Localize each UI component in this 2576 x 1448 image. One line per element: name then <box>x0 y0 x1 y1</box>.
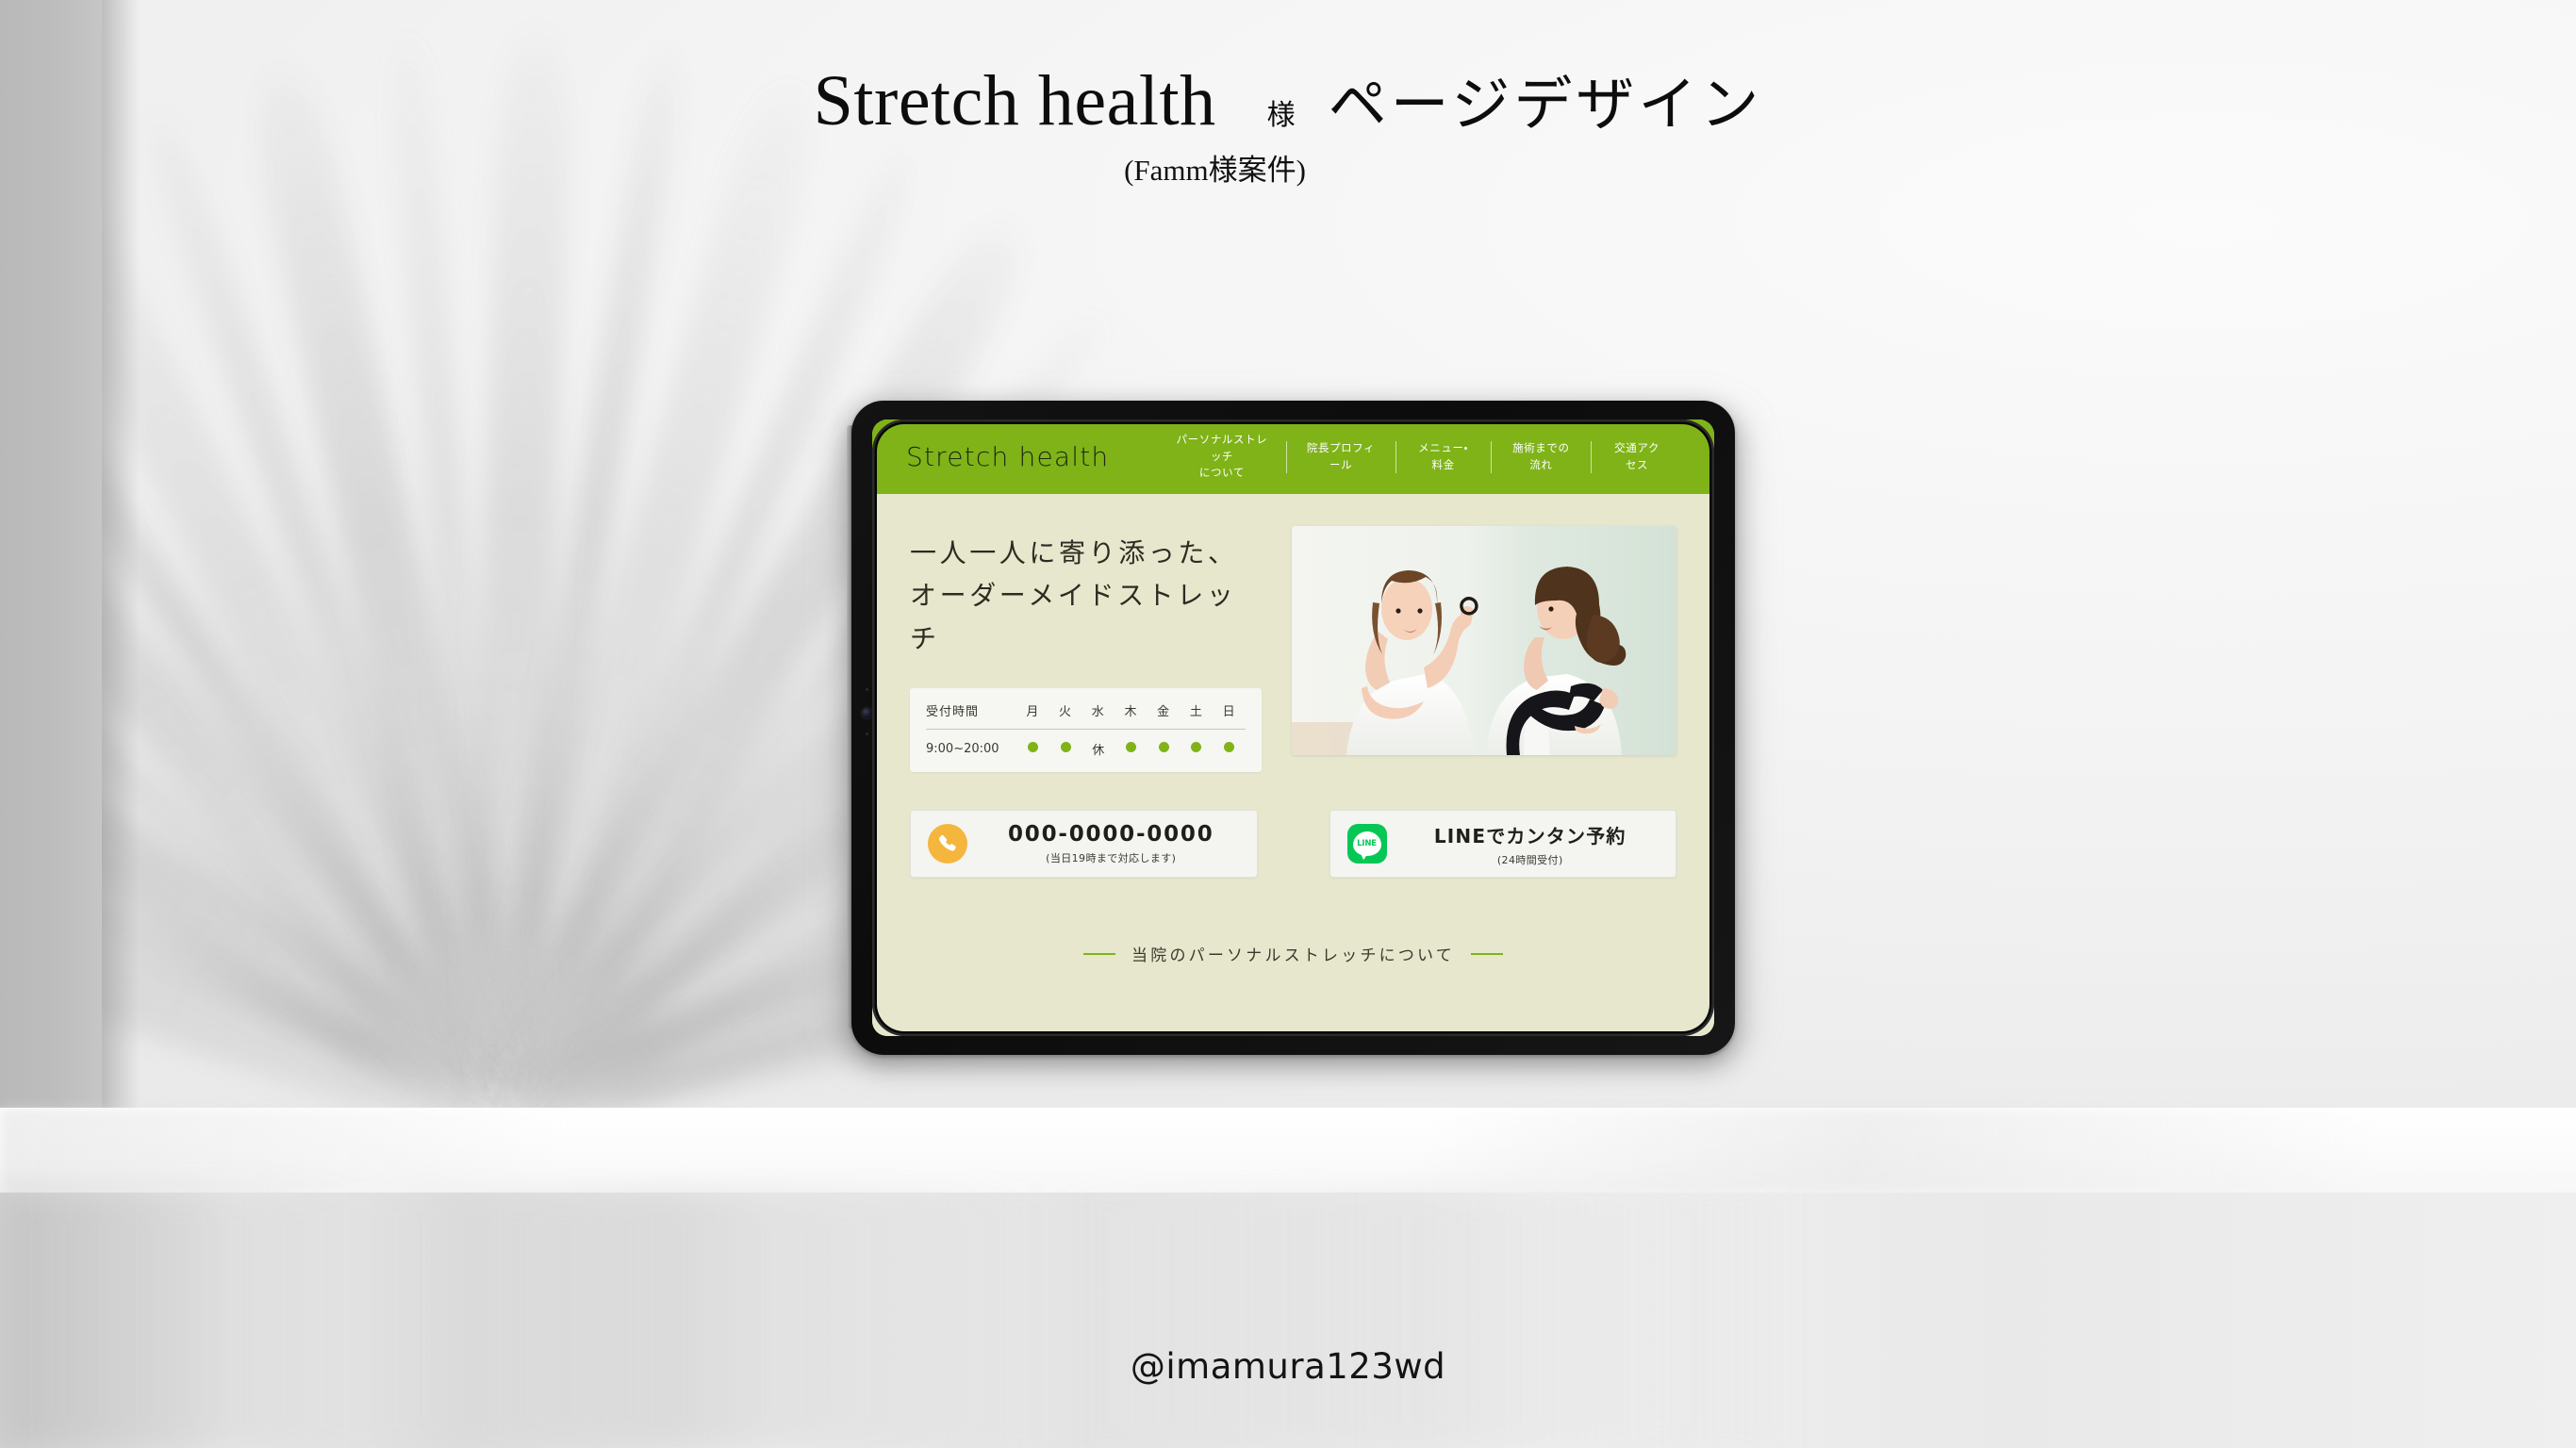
site-navigation-bar: Stretch health パーソナルストレッチ について 院長プロフィール … <box>872 420 1714 494</box>
open-dot-icon <box>1159 742 1169 752</box>
phone-icon <box>928 824 967 864</box>
hero-left-column: 一人一人に寄り添った、 オーダーメイドストレッチ 受付時間 月 火 <box>910 526 1262 772</box>
section-heading-text: 当院のパーソナルストレッチについて <box>1131 942 1455 965</box>
line-icon-label: LINE <box>1357 839 1377 848</box>
schedule-cell-mon <box>1016 730 1049 759</box>
phone-icon-circle <box>928 824 967 864</box>
line-icon-badge: LINE <box>1347 824 1387 864</box>
schedule-day-header: 日 <box>1213 701 1246 730</box>
open-dot-icon <box>1028 742 1038 752</box>
tablet-screen: Stretch health パーソナルストレッチ について 院長プロフィール … <box>872 420 1714 1036</box>
phone-cta-button[interactable]: 000-0000-0000 (当日19時まで対応します) <box>910 810 1258 878</box>
schedule-cell-tue <box>1049 730 1082 759</box>
open-dot-icon <box>1191 742 1201 752</box>
line-cta-text: LINEでカンタン予約 (24時間受付) <box>1402 821 1660 867</box>
phone-note: (当日19時まで対応します) <box>983 850 1240 865</box>
nav-item-director-profile[interactable]: 院長プロフィール <box>1286 440 1395 474</box>
open-dot-icon <box>1224 742 1234 752</box>
hero-section: 一人一人に寄り添った、 オーダーメイドストレッチ 受付時間 月 火 <box>910 526 1676 772</box>
nav-items: パーソナルストレッチ について 院長プロフィール メニュー・料金 施術までの流れ… <box>1158 432 1682 482</box>
nav-item-access[interactable]: 交通アクセス <box>1592 440 1682 474</box>
schedule-day-header: 木 <box>1115 701 1148 730</box>
table-surface-sheen <box>0 1108 2576 1193</box>
section-rule-left <box>1083 953 1115 955</box>
sensor-dot-icon <box>866 688 868 691</box>
schedule-day-header: 水 <box>1082 701 1115 730</box>
schedule-table: 受付時間 月 火 水 木 金 土 日 <box>926 701 1246 758</box>
site-logo[interactable]: Stretch health <box>906 441 1109 472</box>
page-subtitle: (Famm様案件) <box>0 146 2576 189</box>
open-dot-icon <box>1061 742 1071 752</box>
tablet-body: Stretch health パーソナルストレッチ について 院長プロフィール … <box>851 401 1735 1055</box>
title-subject: ページデザイン <box>1329 57 1763 141</box>
nav-item-personal-stretch[interactable]: パーソナルストレッチ について <box>1158 432 1285 482</box>
schedule-day-header: 土 <box>1181 701 1214 730</box>
site-page-body: 一人一人に寄り添った、 オーダーメイドストレッチ 受付時間 月 火 <box>872 494 1714 1036</box>
cta-row: 000-0000-0000 (当日19時まで対応します) LINE <box>910 810 1676 878</box>
title-honorific: 様 <box>1267 91 1296 133</box>
phone-handset-icon <box>936 832 959 855</box>
schedule-day-header: 火 <box>1049 701 1082 730</box>
hero-heading: 一人一人に寄り添った、 オーダーメイドストレッチ <box>910 532 1262 660</box>
schedule-row: 9:00~20:00 休 <box>926 730 1246 759</box>
phone-cta-text: 000-0000-0000 (当日19時まで対応します) <box>983 822 1240 865</box>
line-icon: LINE <box>1347 824 1387 864</box>
tablet-mockup: Stretch health パーソナルストレッチ について 院長プロフィール … <box>851 401 1735 1055</box>
schedule-cell-thu <box>1115 730 1148 759</box>
sensor-dot-icon <box>866 732 868 735</box>
title-brand: Stretch health <box>814 60 1216 142</box>
schedule-header-row: 受付時間 月 火 水 木 金 土 日 <box>926 701 1246 730</box>
hero-heading-line-1: 一人一人に寄り添った、 <box>910 537 1238 568</box>
schedule-cell-fri <box>1148 730 1181 759</box>
section-rule-right <box>1471 953 1503 955</box>
hero-heading-line-2: オーダーメイドストレッチ <box>910 580 1236 653</box>
hero-photo <box>1292 526 1676 755</box>
line-bubble-icon: LINE <box>1353 831 1381 856</box>
schedule-cell-sat <box>1181 730 1214 759</box>
schedule-cell-wed: 休 <box>1082 730 1115 759</box>
table-front-shading <box>0 1193 2576 1448</box>
phone-number: 000-0000-0000 <box>1008 822 1214 847</box>
nav-item-treatment-flow[interactable]: 施術までの流れ <box>1491 440 1591 474</box>
hero-photo-illustration <box>1292 526 1676 755</box>
page-title-block: Stretch health 様 ページデザイン (Famm様案件) <box>0 57 2576 189</box>
page-title: Stretch health 様 ページデザイン <box>814 57 1763 142</box>
open-dot-icon <box>1126 742 1136 752</box>
line-cta-button[interactable]: LINE LINEでカンタン予約 (24時間受付) <box>1329 810 1677 878</box>
schedule-day-header: 金 <box>1148 701 1181 730</box>
schedule-card: 受付時間 月 火 水 木 金 土 日 <box>910 688 1262 772</box>
section-heading: 当院のパーソナルストレッチについて <box>910 942 1676 965</box>
line-label: LINEでカンタン予約 <box>1434 825 1627 847</box>
schedule-day-header: 月 <box>1016 701 1049 730</box>
schedule-cell-sun <box>1213 730 1246 759</box>
nav-item-menu-pricing[interactable]: メニュー・料金 <box>1396 440 1491 474</box>
front-camera-icon <box>862 708 872 718</box>
schedule-hours: 9:00~20:00 <box>926 730 1016 759</box>
author-handle: @imamura123wd <box>0 1346 2576 1387</box>
line-note: (24時間受付) <box>1402 852 1660 867</box>
schedule-label-header: 受付時間 <box>926 701 1016 730</box>
